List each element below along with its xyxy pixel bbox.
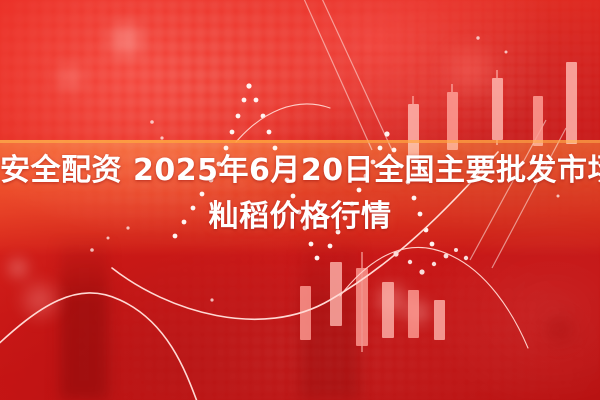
- banner-title: 安全配资 2025年6月20日全国主要批发市场晚 籼稻价格行情: [0, 148, 600, 240]
- banner-image: 安全配资 2025年6月20日全国主要批发市场晚 籼稻价格行情: [0, 0, 600, 400]
- candlestick-group-bottom: [300, 252, 445, 352]
- title-line-2: 籼稻价格行情: [0, 194, 600, 240]
- title-line-1: 安全配资 2025年6月20日全国主要批发市场晚: [0, 153, 600, 188]
